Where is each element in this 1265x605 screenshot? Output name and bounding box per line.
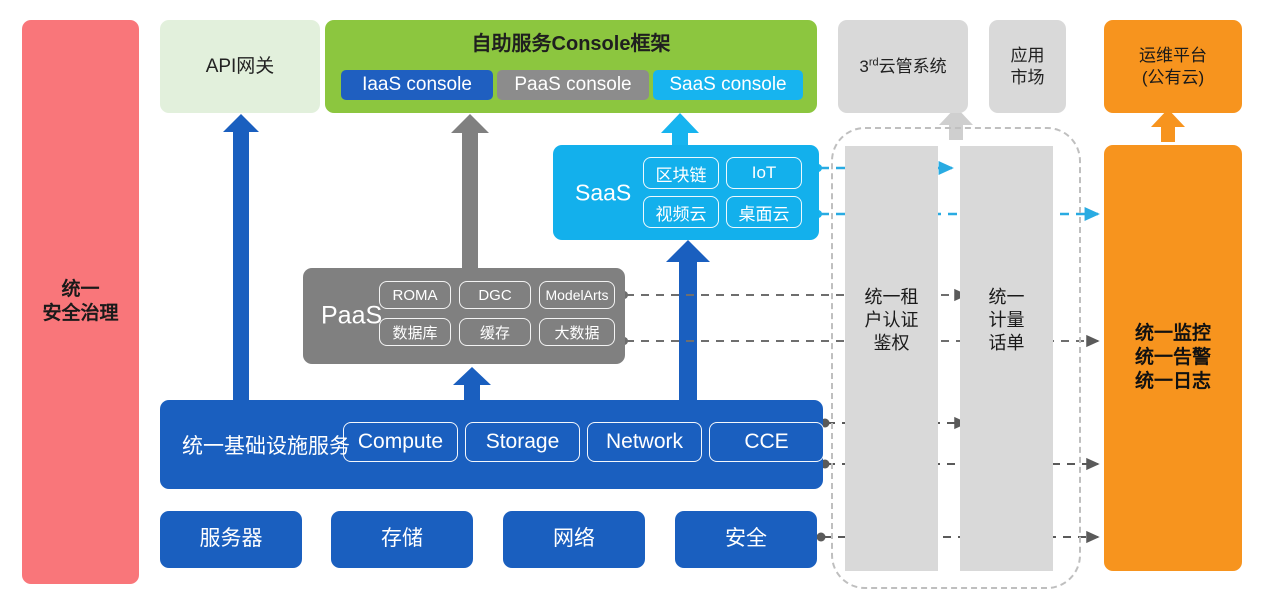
ops-platform-public-cloud[interactable]: 运维平台 (公有云): [1104, 20, 1242, 113]
paas-item-dgc[interactable]: DGC: [459, 281, 531, 309]
self-service-console-frame[interactable]: 自助服务Console框架 IaaS console PaaS console …: [325, 20, 817, 113]
paas-item-cache-label: 缓存: [480, 322, 510, 343]
saas-item-iot[interactable]: IoT: [726, 157, 802, 189]
ops-monitoring-label: 统一监控 统一告警 统一日志: [1135, 322, 1211, 393]
third-party-label: 3rd云管系统: [859, 56, 946, 77]
paas-item-cache[interactable]: 缓存: [459, 318, 531, 346]
paas-item-database-label: 数据库: [392, 322, 437, 343]
resource-server-label: 服务器: [200, 526, 263, 552]
infra-item-cce[interactable]: CCE: [709, 422, 824, 462]
infra-item-network[interactable]: Network: [587, 422, 702, 462]
arrow-infra-to-apigw: [223, 114, 259, 404]
paas-item-roma[interactable]: ROMA: [379, 281, 451, 309]
paas-item-dgc-label: DGC: [478, 287, 511, 304]
arrow-up-to-ops-platform: [1151, 109, 1185, 142]
resource-security-label: 安全: [725, 526, 767, 552]
infra-item-storage[interactable]: Storage: [465, 422, 580, 462]
saas-layer-label: SaaS: [575, 179, 631, 206]
paas-layer[interactable]: PaaS ROMA DGC ModelArts 数据库 缓存 大数据: [303, 268, 625, 364]
chip-iaas-label: IaaS console: [362, 73, 472, 97]
unified-security-governance[interactable]: 统一 安全治理: [22, 20, 139, 584]
saas-item-video-cloud[interactable]: 视频云: [643, 196, 719, 228]
paas-item-modelarts-label: ModelArts: [545, 287, 608, 303]
saas-item-video-cloud-label: 视频云: [656, 200, 707, 225]
arrow-infra-to-saas: [666, 240, 710, 404]
chip-paas-label: PaaS console: [514, 73, 631, 97]
resource-network-label: 网络: [553, 526, 595, 552]
column-unified-tenant-auth[interactable]: [845, 146, 938, 571]
third-party-cloud-management[interactable]: 3rd云管系统: [838, 20, 968, 113]
paas-item-database[interactable]: 数据库: [379, 318, 451, 346]
resource-network[interactable]: 网络: [503, 511, 645, 568]
governance-label: 统一 安全治理: [42, 278, 118, 326]
saas-item-desktop-cloud-label: 桌面云: [739, 200, 790, 225]
infra-item-cce-label: CCE: [744, 430, 788, 454]
api-gateway[interactable]: API网关: [160, 20, 320, 113]
column-unified-metering-label: 统一 计量 话单: [960, 286, 1053, 355]
infra-item-network-label: Network: [606, 430, 683, 454]
saas-layer[interactable]: SaaS 区块链 IoT 视频云 桌面云: [553, 145, 819, 240]
saas-item-iot-label: IoT: [752, 163, 777, 183]
resource-server[interactable]: 服务器: [160, 511, 302, 568]
paas-item-bigdata[interactable]: 大数据: [539, 318, 615, 346]
paas-layer-label: PaaS: [321, 302, 382, 331]
unified-infrastructure-services[interactable]: 统一基础设施服务 Compute Storage Network CCE: [160, 400, 823, 489]
paas-item-roma-label: ROMA: [393, 287, 438, 304]
ops-platform-label: 运维平台 (公有云): [1139, 45, 1207, 88]
architecture-diagram: 统一 安全治理 API网关 自助服务Console框架 IaaS console…: [0, 0, 1265, 605]
arrow-infra-to-paas: [453, 367, 491, 404]
console-frame-title: 自助服务Console框架: [325, 32, 817, 57]
app-market[interactable]: 应用 市场: [989, 20, 1066, 113]
saas-item-desktop-cloud[interactable]: 桌面云: [726, 196, 802, 228]
infra-item-compute[interactable]: Compute: [343, 422, 458, 462]
infra-label: 统一基础设施服务: [182, 430, 350, 460]
saas-item-blockchain[interactable]: 区块链: [643, 157, 719, 189]
ops-monitoring-panel[interactable]: 统一监控 统一告警 统一日志: [1104, 145, 1242, 571]
chip-saas-label: SaaS console: [669, 73, 786, 97]
infra-item-compute-label: Compute: [358, 430, 443, 454]
column-unified-metering[interactable]: [960, 146, 1053, 571]
app-market-label: 应用 市场: [1011, 45, 1045, 88]
resource-storage-label: 存储: [381, 526, 423, 552]
column-unified-tenant-auth-label: 统一租 户认证 鉴权: [845, 286, 938, 355]
resource-security[interactable]: 安全: [675, 511, 817, 568]
arrow-paas-to-console: [451, 114, 489, 270]
saas-item-blockchain-label: 区块链: [656, 161, 707, 186]
infra-item-storage-label: Storage: [486, 430, 560, 454]
chip-paas-console[interactable]: PaaS console: [497, 70, 649, 100]
chip-saas-console[interactable]: SaaS console: [653, 70, 803, 100]
chip-iaas-console[interactable]: IaaS console: [341, 70, 493, 100]
paas-item-bigdata-label: 大数据: [554, 322, 599, 343]
resource-storage[interactable]: 存储: [331, 511, 473, 568]
api-gateway-label: API网关: [206, 55, 275, 79]
paas-item-modelarts[interactable]: ModelArts: [539, 281, 615, 309]
